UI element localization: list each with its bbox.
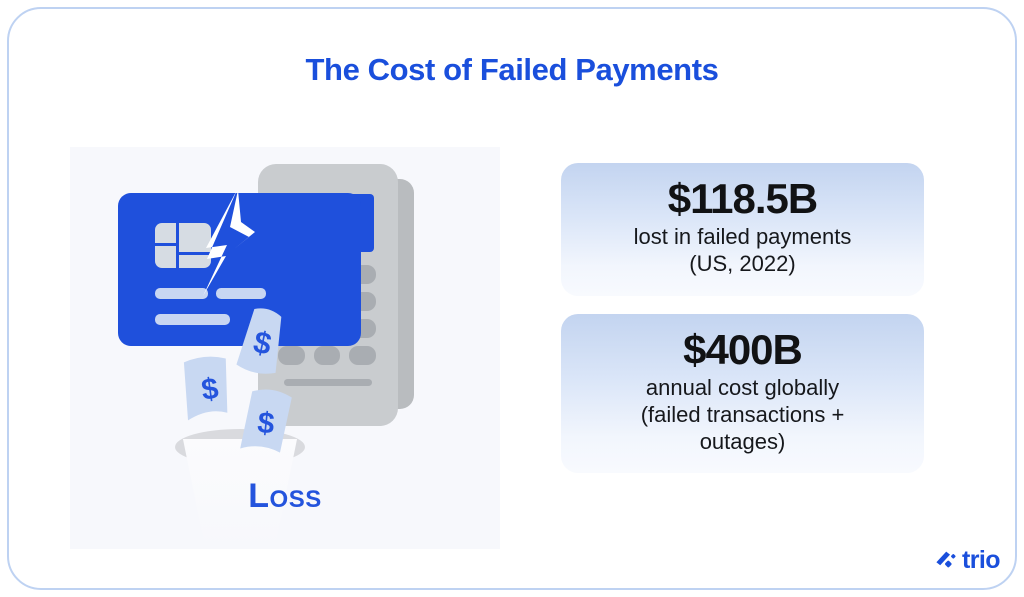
chip-divider xyxy=(176,223,179,268)
stat-description-line: (failed transactions + xyxy=(579,402,906,429)
infographic-canvas: The Cost of Failed Payments xyxy=(0,0,1024,597)
stat-card: $400B annual cost globally (failed trans… xyxy=(561,314,924,474)
loss-caption: Loss xyxy=(70,477,500,516)
stat-description: lost in failed payments (US, 2022) xyxy=(579,224,906,278)
stat-value: $400B xyxy=(579,328,906,372)
stat-description-line: annual cost globally xyxy=(579,375,906,402)
trio-wordmark: trio xyxy=(962,548,1000,573)
stat-description: annual cost globally (failed transaction… xyxy=(579,375,906,455)
illustration-stage: $ $ $ Loss xyxy=(70,147,500,549)
stat-value: $118.5B xyxy=(579,177,906,221)
illustration-panel: $ $ $ Loss xyxy=(70,147,500,549)
stat-card: $118.5B lost in failed payments (US, 202… xyxy=(561,163,924,296)
page-title: The Cost of Failed Payments xyxy=(0,52,1024,88)
stat-description-line: lost in failed payments xyxy=(579,224,906,251)
keypad-key xyxy=(349,346,376,365)
trio-logo[interactable]: trio xyxy=(933,548,1000,573)
chip-divider xyxy=(155,243,176,246)
pos-terminal-card-slot xyxy=(284,379,372,386)
stat-description-line: (US, 2022) xyxy=(579,251,906,278)
stat-description-line: outages) xyxy=(579,429,906,456)
falling-dollar-note: $ xyxy=(225,307,295,385)
stat-card-list: $118.5B lost in failed payments (US, 202… xyxy=(561,163,924,491)
trio-diamond-mark-icon xyxy=(933,550,957,572)
falling-dollar-note: $ xyxy=(235,387,297,459)
keypad-key xyxy=(314,346,341,365)
